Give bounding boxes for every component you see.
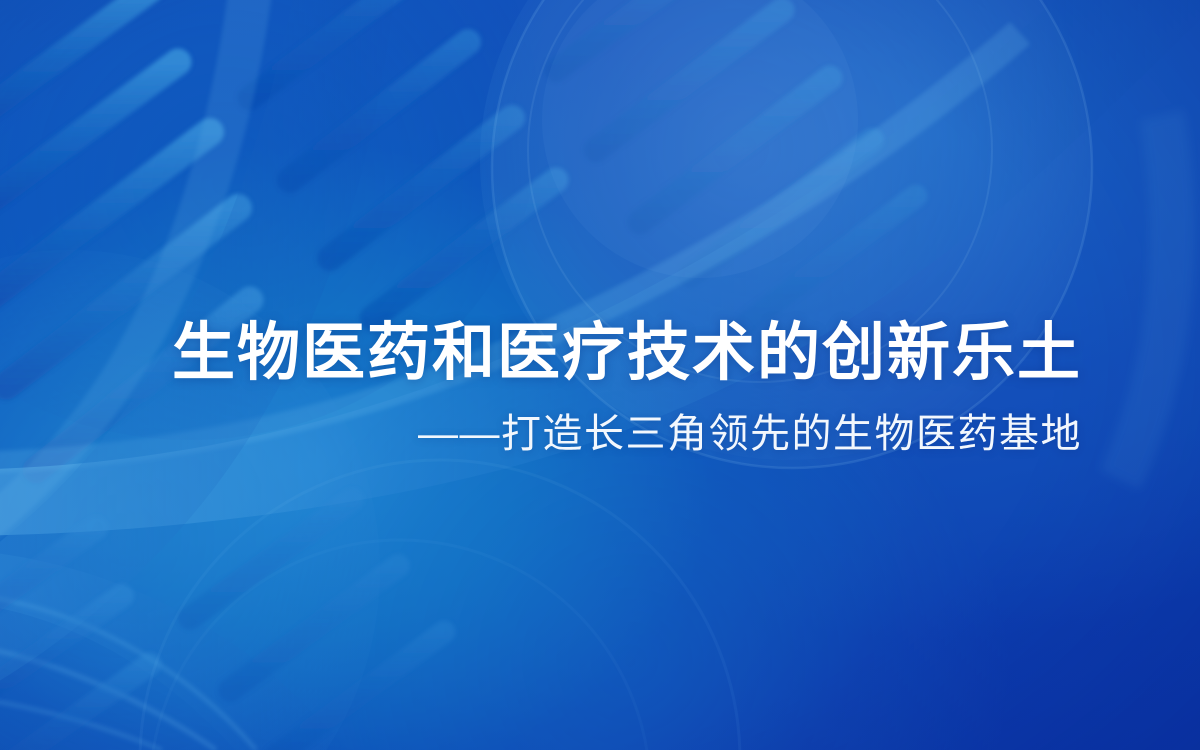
dna-helix-right-faint (1100, 110, 1195, 490)
banner-headline: 生物医药和医疗技术的创新乐土 (0, 318, 1082, 390)
hero-banner: 生物医药和医疗技术的创新乐土 ——打造长三角领先的生物医药基地 (0, 0, 1200, 750)
banner-text-block: 生物医药和医疗技术的创新乐土 ——打造长三角领先的生物医药基地 (0, 318, 1082, 458)
banner-subheadline: ——打造长三角领先的生物医药基地 (0, 410, 1082, 458)
